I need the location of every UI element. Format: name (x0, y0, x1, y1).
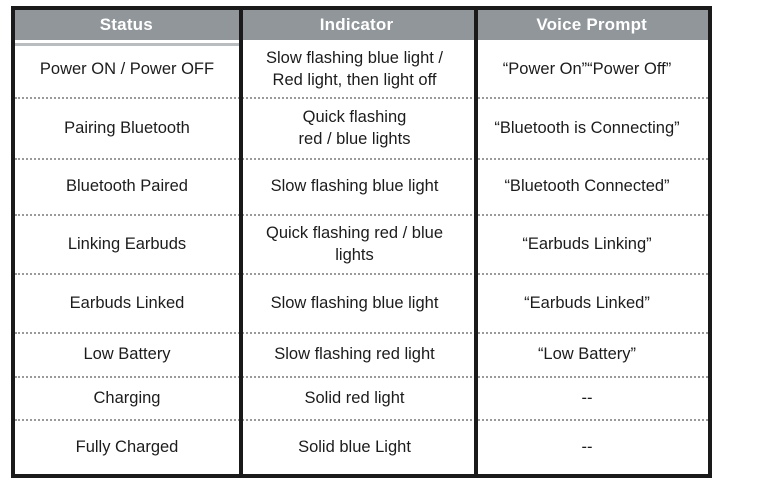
cell-indicator-text: Slow flashing blue light (271, 293, 439, 315)
table-row: Charging Solid red light -- (15, 376, 708, 419)
cell-voice-prompt: “Power On”“Power Off” (470, 43, 704, 97)
table-row: Bluetooth Paired Slow flashing blue ligh… (15, 158, 708, 214)
cell-status: Bluetooth Paired (15, 160, 239, 214)
column-divider-2 (474, 10, 478, 474)
cell-indicator: Solid red light (239, 378, 470, 419)
cell-status-text: Fully Charged (76, 437, 179, 459)
table-row: Pairing Bluetooth Quick flashingred / bl… (15, 97, 708, 158)
table-header-row: Status Indicator Voice Prompt (15, 10, 708, 43)
cell-indicator: Quick flashing red / blue lights (239, 216, 470, 273)
cell-voice-prompt-text: “Low Battery” (538, 344, 636, 366)
cell-voice-prompt: “Low Battery” (470, 334, 704, 376)
cell-indicator: Slow flashing blue light (239, 160, 470, 214)
cell-indicator-text: Slow flashing blue light (271, 176, 439, 198)
cell-voice-prompt: “Earbuds Linking” (470, 216, 704, 273)
cell-voice-prompt-text: -- (582, 437, 593, 459)
column-header-status: Status (15, 10, 238, 40)
column-header-voice-prompt-label: Voice Prompt (536, 15, 647, 35)
column-divider-1 (239, 10, 243, 474)
column-header-indicator: Indicator (242, 10, 472, 40)
column-header-status-label: Status (100, 15, 153, 35)
column-header-indicator-label: Indicator (320, 15, 394, 35)
cell-voice-prompt-text: “Earbuds Linking” (522, 234, 651, 256)
cell-voice-prompt-text: “Earbuds Linked” (524, 293, 650, 315)
table-row: Fully Charged Solid blue Light -- (15, 419, 708, 475)
status-indicator-table: Status Indicator Voice Prompt Power ON /… (11, 6, 712, 478)
cell-voice-prompt-text: “Bluetooth Connected” (504, 176, 669, 198)
cell-status-text: Power ON / Power OFF (40, 59, 214, 81)
cell-status-text: Earbuds Linked (70, 293, 185, 315)
cell-indicator-text: Quick flashingred / blue lights (299, 107, 411, 151)
cell-status: Low Battery (15, 334, 239, 376)
cell-voice-prompt: -- (470, 378, 704, 419)
cell-status: Pairing Bluetooth (15, 99, 239, 158)
cell-status-text: Charging (94, 388, 161, 410)
cell-indicator: Slow flashing red light (239, 334, 470, 376)
cell-indicator: Solid blue Light (239, 421, 470, 475)
table-row: Earbuds Linked Slow flashing blue light … (15, 273, 708, 332)
cell-status: Charging (15, 378, 239, 419)
cell-status: Power ON / Power OFF (15, 43, 239, 97)
cell-status: Earbuds Linked (15, 275, 239, 332)
cell-voice-prompt-text: -- (582, 388, 593, 410)
cell-indicator-text: Slow flashing blue light /Red light, the… (266, 48, 443, 92)
column-header-voice-prompt: Voice Prompt (475, 10, 708, 40)
cell-status-text: Linking Earbuds (68, 234, 186, 256)
cell-status-text: Pairing Bluetooth (64, 118, 190, 140)
cell-status-text: Low Battery (83, 344, 170, 366)
cell-indicator: Slow flashing blue light (239, 275, 470, 332)
cell-voice-prompt-text: “Power On”“Power Off” (503, 59, 671, 81)
cell-indicator-text: Slow flashing red light (274, 344, 435, 366)
page-root: Status Indicator Voice Prompt Power ON /… (0, 0, 760, 489)
cell-voice-prompt: “Earbuds Linked” (470, 275, 704, 332)
table-row: Power ON / Power OFF Slow flashing blue … (15, 43, 708, 97)
cell-indicator: Quick flashingred / blue lights (239, 99, 470, 158)
cell-status: Fully Charged (15, 421, 239, 475)
table-row: Low Battery Slow flashing red light “Low… (15, 332, 708, 376)
cell-voice-prompt: -- (470, 421, 704, 475)
cell-voice-prompt: “Bluetooth Connected” (470, 160, 704, 214)
cell-indicator-text: Solid blue Light (298, 437, 411, 459)
table-inner: Status Indicator Voice Prompt Power ON /… (15, 10, 708, 474)
cell-status-text: Bluetooth Paired (66, 176, 188, 198)
cell-indicator-text: Quick flashing red / blue lights (245, 223, 464, 267)
cell-voice-prompt: “Bluetooth is Connecting” (470, 99, 704, 158)
cell-indicator-text: Solid red light (305, 388, 405, 410)
cell-indicator: Slow flashing blue light /Red light, the… (239, 43, 470, 97)
table-body: Power ON / Power OFF Slow flashing blue … (15, 43, 708, 475)
table-row: Linking Earbuds Quick flashing red / blu… (15, 214, 708, 273)
cell-voice-prompt-text: “Bluetooth is Connecting” (494, 118, 679, 140)
cell-status: Linking Earbuds (15, 216, 239, 273)
